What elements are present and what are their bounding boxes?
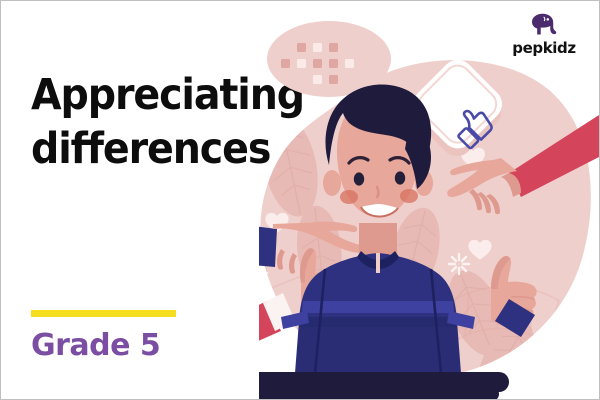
stage-bar: [259, 372, 509, 400]
grade-block: Grade 5: [31, 310, 241, 361]
slide-canvas: pepkidz Appreciating differences Grade 5: [0, 0, 600, 400]
illustration: [259, 1, 599, 400]
grade-label: Grade 5: [31, 331, 241, 361]
grade-rule: [31, 310, 176, 317]
